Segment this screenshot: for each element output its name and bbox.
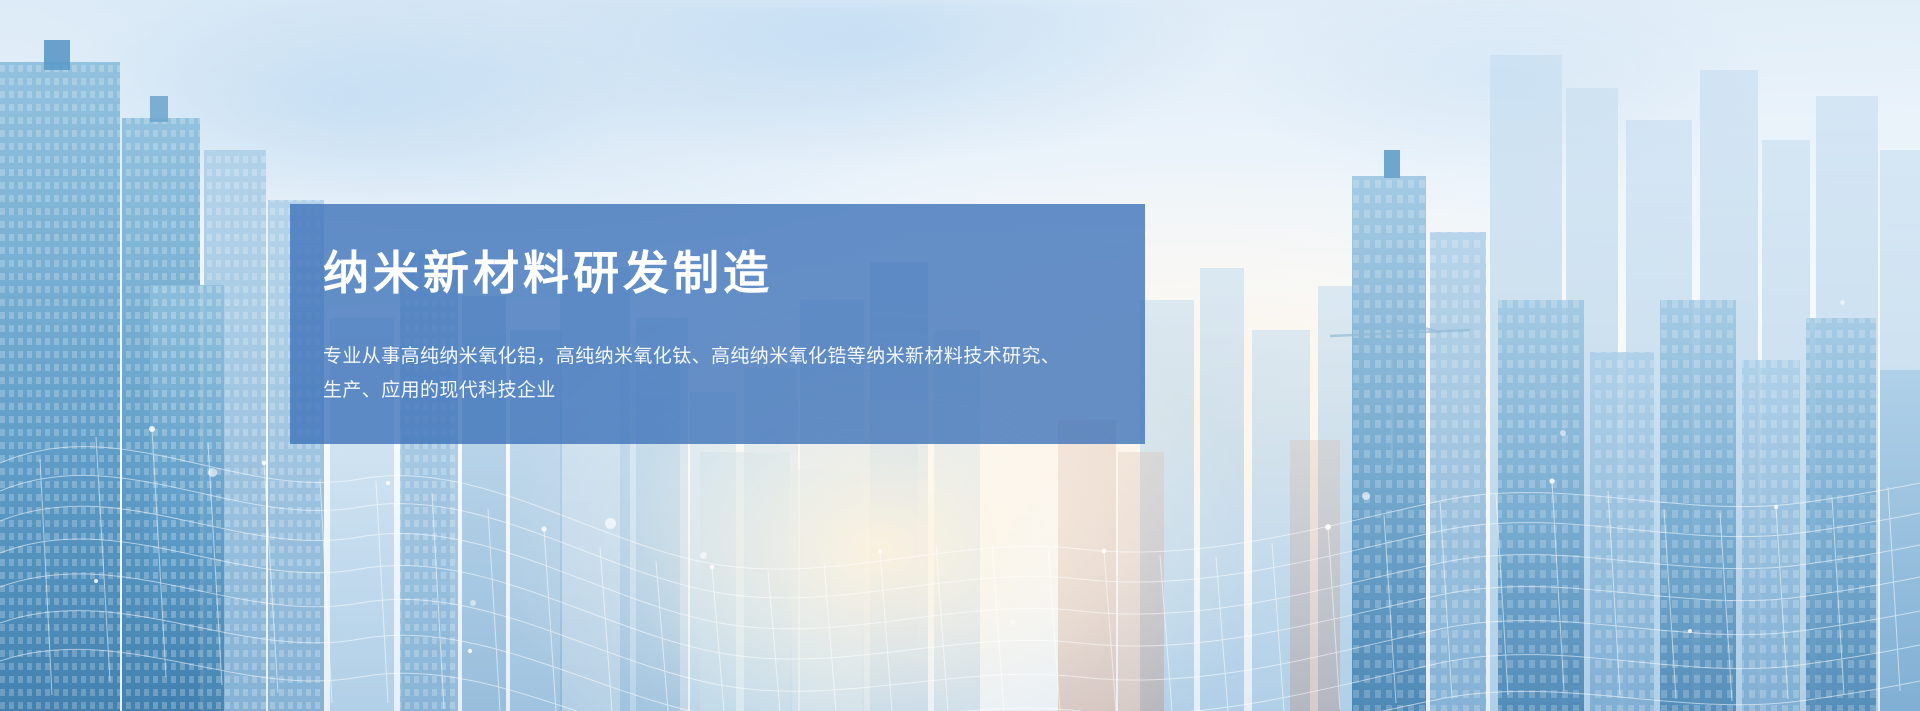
subtitle-line-2: 生产、应用的现代科技企业 [323, 373, 1123, 407]
hero-text-panel: 纳米新材料研发制造 专业从事高纯纳米氧化铝，高纯纳米氧化钛、高纯纳米氧化锆等纳米… [290, 204, 1145, 444]
page-subtitle: 专业从事高纯纳米氧化铝，高纯纳米氧化钛、高纯纳米氧化锆等纳米新材料技术研究、 生… [323, 339, 1123, 407]
page-title: 纳米新材料研发制造 [323, 248, 1145, 299]
banner-hero: 纳米新材料研发制造 专业从事高纯纳米氧化铝，高纯纳米氧化钛、高纯纳米氧化锆等纳米… [0, 0, 1920, 711]
subtitle-line-1: 专业从事高纯纳米氧化铝，高纯纳米氧化钛、高纯纳米氧化锆等纳米新材料技术研究、 [323, 339, 1123, 373]
